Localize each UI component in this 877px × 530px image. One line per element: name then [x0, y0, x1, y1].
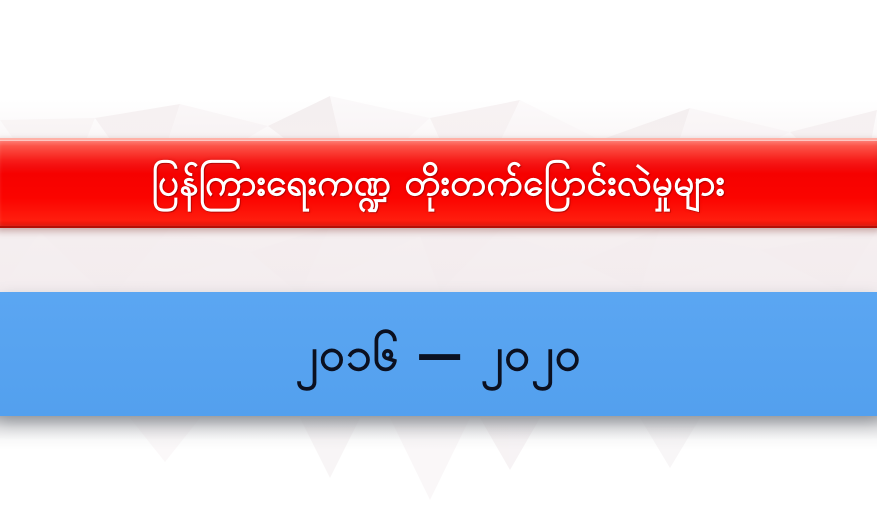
year-band: ၂၀၁၆ — ၂၀၂၀ — [0, 292, 877, 416]
background-texture — [0, 0, 877, 530]
title-slide: ပြန်ကြားရေးကဏ္ဍ တိုးတက်ပြောင်းလဲမှုများ … — [0, 0, 877, 530]
year-range-label: ၂၀၁၆ — ၂၀၂၀ — [295, 331, 581, 377]
title-banner: ပြန်ကြားရေးကဏ္ဍ တိုးတက်ပြောင်းလဲမှုများ — [0, 138, 877, 228]
page-title: ပြန်ကြားရေးကဏ္ဍ တိုးတက်ပြောင်းလဲမှုများ — [152, 164, 725, 203]
year-band-shadow — [0, 416, 877, 450]
